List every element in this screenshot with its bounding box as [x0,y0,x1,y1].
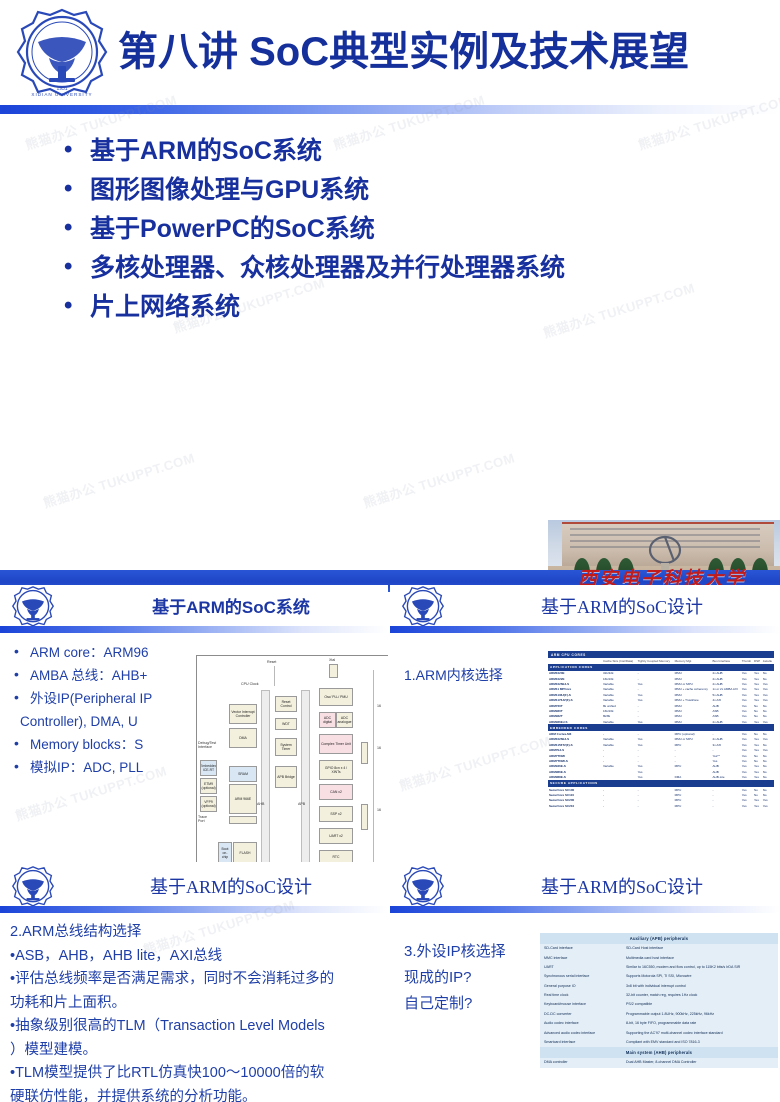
peripheral-ip-notes: 3.外设IP核选择 现成的IP? 自己定制? [404,939,506,1017]
diagram-block: VFP9 (optional) [200,796,217,812]
diagram-block: CAN x2 [319,784,353,800]
table-cell: 1x or 2x AMBA AXI [712,687,741,692]
text-line: 2.ARM总线结构选择 [10,921,382,944]
table-cell: 3x8 bit with individual interrupt contro… [622,982,778,991]
section-label: SECURE APPLICATIONS [548,780,774,787]
diagram-ahb-bus [261,690,270,862]
core-selection-note: 1.ARM内核选择 [404,663,503,687]
sub-slide-header: 基于ARM的SoC系统 [0,585,388,633]
diagram-block: Reset Control [275,696,297,712]
header-divider [0,105,780,114]
table-cell: DC-DC converter [540,1010,622,1019]
table-section-header: SECURE APPLICATIONS [548,780,774,787]
table-row: SD-Card interfaceSD-Card Host interface [540,944,778,953]
sub-slide-title: 基于ARM的SoC设计 [80,873,382,899]
table-cell: SD-Card Host interface [622,944,778,953]
text-line: •评估总线频率是否满足需求，同时不会消耗过多的 [10,968,382,991]
diagram-block: SRAM [229,766,257,782]
table-cell: Supporting the AC'97 multi-channel codec… [622,1028,778,1037]
diagram-block: System Timer [275,738,297,756]
table-cell: Real time clock [540,991,622,1000]
table-cell: 8-bit, 16 byte FIFO, programmable data r… [622,1019,778,1028]
text-line: •ASB，AHB，AHB lite，AXI总线 [10,945,382,968]
main-bullet-list: 基于ARM的SoC系统 图形图像处理与GPU系统 基于PowerPC的SoC系统… [60,132,760,327]
sub-slide-body: 3.外设IP核选择 现成的IP? 自己定制? Auxiliary (APB) p… [390,913,780,1102]
sub-slide-title: 基于ARM的SoC设计 [470,873,774,899]
diagram-block: SSP x2 [319,806,353,822]
watermark: 熊猫办公 TUKUPPT.COM [397,730,553,794]
main-bullet-item: 片上网络系统 [60,288,760,327]
table-section-header: EMBEDDED CORES [548,724,774,731]
table-cell: DMA controller [540,1058,622,1067]
header-divider [0,906,388,913]
sub-slide-body: 2.ARM总线结构选择 •ASB，AHB，AHB lite，AXI总线 •评估总… [0,913,388,1102]
text-line: 3.外设IP核选择 [404,939,506,965]
sub-slide-body: 1.ARM内核选择 ARM CPU CORES Cache Size (Inst… [390,633,780,862]
table-cell: Similar to 16C550, modem and flow contro… [622,963,778,972]
watermark: 熊猫办公 TUKUPPT.COM [41,447,197,511]
main-bullet-item: 图形图像处理与GPU系统 [60,171,760,210]
diagram-pin-mux [361,804,368,830]
main-title-slide: 1931 XIDIAN UNIVERSITY 第八讲 SoC典型实例及技术展望 … [0,0,780,520]
peripherals-rows: DMA controllerDual AHB Master, 8-channel… [540,1058,778,1067]
apb-peripherals-table: Auxiliary (APB) peripheralsSD-Card inter… [540,933,778,1068]
diagram-label-reset: Reset [267,660,276,664]
header-divider [390,906,780,913]
diagram-apb-bus [301,690,310,862]
diagram-block: APB Bridge [275,766,297,788]
section-label: EMBEDDED CORES [548,724,774,731]
table-cell: MMU + cache coherency [674,687,712,692]
main-bullet-item: 基于PowerPC的SoC系统 [60,210,760,249]
table-cell: Programmable output 1.8UHz, 900kHz, 225k… [622,1010,778,1019]
diagram-crystal-icon [329,664,338,678]
svg-text:XIDIAN UNIVERSITY: XIDIAN UNIVERSITY [31,92,92,97]
page-title: 第八讲 SoC典型实例及技术展望 [118,22,768,84]
sub-slide-header: 基于ARM的SoC设计 [390,865,780,913]
sub-slide-arm-core-selection: 基于ARM的SoC设计 1.ARM内核选择 ARM CPU CORES Cach… [390,585,780,862]
table-row: Synchronous serial interfaceSupports Mot… [540,972,778,981]
main-bullet-item: 基于ARM的SoC系统 [60,132,760,171]
peripherals-rows: SD-Card interfaceSD-Card Host interfaceM… [540,944,778,1047]
table-cell: Supports Motorola SPI, TI SSI, Microwire [622,972,778,981]
table-cell: Advanced audio codec interface [540,1028,622,1037]
table-cell: UART [540,963,622,972]
table-section-header: Main system (AHB) peripherals [540,1047,778,1058]
diagram-bus-label-ahb: AHB [257,802,264,806]
diagram-port-label: Debug/Test Interface [198,742,216,750]
text-line: ）模型建模。 [10,1039,382,1062]
diagram-block: RTC [319,850,353,862]
diagram-block: FLASH [233,842,257,862]
diagram-block: DMA [229,728,257,748]
table-cell: Smartcard interface [540,1038,622,1047]
table-row: SecurCore SC210--MPU-YesYesYes [548,803,774,808]
diagram-bus-label-apb: APB [298,802,305,806]
table-cell: Yes [762,803,774,808]
diagram-label-cpu-clock: CPU Clock [241,682,261,686]
diagram-label-xtal: Xtal [329,658,335,662]
section-label: APPLICATION CORES [548,664,774,671]
diagram-block: Complex Timer Unit [319,734,353,754]
diagram-pin-mux [361,742,368,764]
diagram-block-interrupts [229,816,257,824]
diagram-block: Osc/ PLL/ PMU [319,688,353,706]
sub-slides-grid: 西安电子科技大学 基于ARM的SoC系统 [0,520,780,1102]
sub-slide-header: 基于ARM的SoC设计 [0,865,388,913]
table-cell: SD-Card interface [540,944,622,953]
table-cell: Dual AHB Master, 8-channel DMA Controlle… [622,1058,778,1067]
diagram-block: ETM9 (optional) [200,778,217,794]
sub-slide-peripheral-ip-selection: 基于ARM的SoC设计 3.外设IP核选择 现成的IP? 自己定制? Auxil… [390,865,780,1102]
table-cell: - [712,803,741,808]
text-line: 现成的IP? [404,965,506,991]
table-cell: Multimedia card host interface [622,953,778,962]
table-cell: General purpose IO [540,982,622,991]
table-header: ARM CPU CORES [548,651,774,658]
diagram-block: Vector Interrupt Controller [229,704,257,724]
main-slide-header: 1931 XIDIAN UNIVERSITY 第八讲 SoC典型实例及技术展望 [0,0,780,112]
table-cell: 32-bit counter, match reg, requires 1Hz … [622,991,778,1000]
diagram-block: ADC analogue [336,712,353,728]
table-cell: MMC interface [540,953,622,962]
diagram-pin-count: 16 [377,746,381,750]
table-row: Smartcard interfaceCompliant with EMV st… [540,1038,778,1047]
table-cell: Compliant with EMV standard and ISO 7816… [622,1038,778,1047]
diagram-block: ADC digital [319,712,336,728]
diagram-pin-count: 16 [377,808,381,812]
text-line: 硬联仿性能，并提供系统的分析功能。 [10,1086,382,1102]
table-row: UARTSimilar to 16C550, modem and flow co… [540,963,778,972]
table-row: MMC interfaceMultimedia card host interf… [540,953,778,962]
diagram-block: ARM 966E [229,784,257,814]
table-row: Keyboard/mouse interfacePS/2 compatible [540,1000,778,1009]
table-section-header: APPLICATION CORES [548,664,774,671]
arm-soc-block-diagram: Reset Xtal CPU Clock AHB APB Vector Inte… [196,655,388,862]
main-bullet-item: 多核处理器、众核处理器及并行处理器系统 [60,249,760,288]
sub-slide-title: 基于ARM的SoC设计 [470,593,774,619]
sub-slide-body: ARM core：ARM96 AMBA 总线：AHB+ 外设IP(Periphe… [0,633,388,862]
table-section-header: Auxiliary (APB) peripherals [540,933,778,944]
table-cell: PS/2 compatible [622,1000,778,1009]
watermark: 熊猫办公 TUKUPPT.COM [361,447,517,511]
table-cell: - [637,803,674,808]
table-row: Real time clock32-bit counter, match reg… [540,991,778,1000]
table-cell: Yes [753,803,762,808]
table-cell: Keyboard/mouse interface [540,1000,622,1009]
bus-selection-text: 2.ARM总线结构选择 •ASB，AHB，AHB lite，AXI总线 •评估总… [10,921,382,1102]
diagram-block: UART x2 [319,828,353,844]
table-cell: Yes [741,803,753,808]
text-line: •TLM模型提供了比RTL仿真快100～10000倍的软 [10,1062,382,1085]
diagram-port-label: Trace Port [198,816,214,824]
table-cell: MPU [674,803,712,808]
col-tcm: Tightly Coupled Memory [637,658,674,663]
table-row: DC-DC converterProgrammable output 1.8UH… [540,1010,778,1019]
diagram-block: Embedded ICE-RT [200,760,217,776]
header-divider [390,626,780,633]
text-line: •抽象级别很高的TLM（Transaction Level Models [10,1015,382,1038]
table-cell: - [602,803,637,808]
sub-slide-arm-bus-selection: 基于ARM的SoC设计 2.ARM总线结构选择 •ASB，AHB，AHB lit… [0,865,388,1102]
table-cell: SecurCore SC210 [548,803,602,808]
text-line: 自己定制? [404,991,506,1017]
table-row: General purpose IO3x8 bit with individua… [540,982,778,991]
table-cell: Audio codec interface [540,1019,622,1028]
text-line: 功耗和片上面积。 [10,992,382,1015]
xidian-university-emblem-icon: 1931 XIDIAN UNIVERSITY [12,6,112,104]
sub-slide-header: 基于ARM的SoC设计 [390,585,780,633]
table-row: DMA controllerDual AHB Master, 8-channel… [540,1058,778,1067]
diagram-block: Boot on-chip [218,842,232,862]
diagram-pin-count: 16 [377,704,381,708]
table-row: Advanced audio codec interfaceSupporting… [540,1028,778,1037]
sub-slide-title: 基于ARM的SoC系统 [80,593,382,618]
table-cell: Synchronous serial interface [540,972,622,981]
col-cache: Cache Size (Inst/Data) [602,658,637,663]
arm-cpu-cores-table: ARM CPU CORES Cache Size (Inst/Data) Tig… [548,651,774,809]
table-row: Audio codec interface8-bit, 16 byte FIFO… [540,1019,778,1028]
diagram-block: GPIO 8cn x 4 / XINTs [319,760,353,780]
diagram-block: WDT [275,718,297,730]
sub-slide-arm-soc-system: 基于ARM的SoC系统 ARM core：ARM96 AMBA 总线：AHB+ … [0,585,388,862]
header-divider [0,626,388,633]
